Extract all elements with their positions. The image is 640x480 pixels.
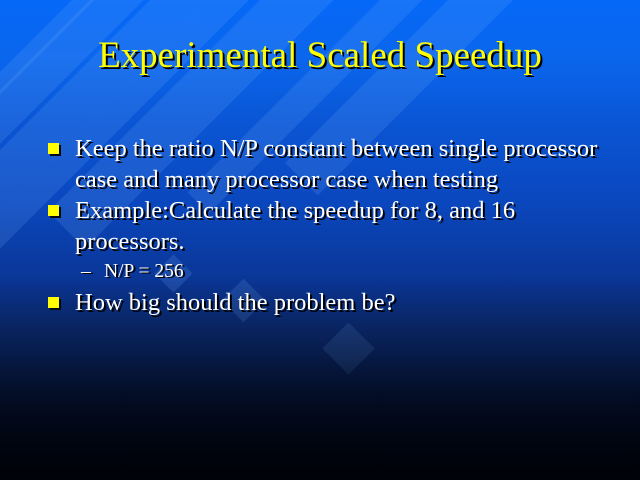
dash-bullet-icon: – <box>81 257 99 287</box>
bullet-text: How big should the problem be? <box>75 287 618 318</box>
bullet-item: Keep the ratio N/P constant between sing… <box>48 133 618 195</box>
sub-bullet-item: – N/P = 256 <box>81 257 618 287</box>
bullet-text: Example:Calculate the speedup for 8, and… <box>75 195 618 257</box>
watermark-band-tip <box>322 322 374 374</box>
square-bullet-icon <box>48 297 59 308</box>
bullet-item: Example:Calculate the speedup for 8, and… <box>48 195 618 257</box>
slide-body: Keep the ratio N/P constant between sing… <box>48 133 618 318</box>
square-bullet-icon <box>48 143 59 154</box>
bullet-item: How big should the problem be? <box>48 287 618 318</box>
slide-title: Experimental Scaled Speedup <box>0 34 640 78</box>
sub-bullet-text: N/P = 256 <box>104 257 618 287</box>
bullet-text: Keep the ratio N/P constant between sing… <box>75 133 618 195</box>
presentation-slide: Experimental Scaled Speedup Keep the rat… <box>0 0 640 480</box>
square-bullet-icon <box>48 205 59 216</box>
